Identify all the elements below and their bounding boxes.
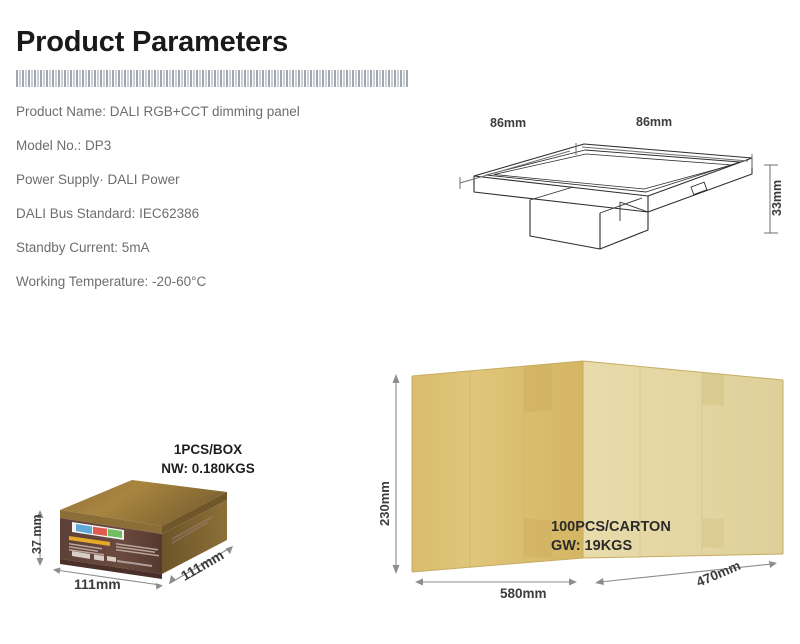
- panel-right-wall: [648, 158, 752, 212]
- panel-dimension-drawing: 86mm 86mm 33mm: [452, 118, 792, 253]
- carton-qty: 100PCS/CARTON: [551, 518, 671, 537]
- panel-dim-width-right: 86mm: [636, 115, 672, 129]
- panel-port-detail: [691, 182, 707, 194]
- carton-drawing: 230mm 580mm 470mm: [372, 358, 800, 606]
- panel-drawing-svg: [452, 118, 792, 253]
- dim-line-right-86: [582, 147, 748, 161]
- small-box-dim-width: 111mm: [74, 576, 121, 592]
- carton-dim-height: 230mm: [377, 481, 392, 526]
- carton-tape-top-side: [702, 372, 724, 406]
- dim-line-depth-470: [600, 564, 772, 582]
- decorative-divider: [16, 70, 408, 87]
- carton-tape-bottom-side: [702, 518, 724, 548]
- spec-item-power-supply: Power Supply· DALI Power: [16, 172, 436, 188]
- panel-front-wall: [474, 176, 648, 212]
- page-title: Product Parameters: [16, 26, 288, 59]
- carton-tape-bottom-front: [524, 518, 552, 558]
- spec-item-bus-standard: DALI Bus Standard: IEC62386: [16, 206, 436, 222]
- small-box-drawing: 37 mm 111mm 111mm: [12, 430, 282, 600]
- carton-weight: GW: 19KGS: [551, 537, 671, 556]
- spec-item-product-name: Product Name: DALI RGB+CCT dimming panel: [16, 104, 436, 120]
- spec-list: Product Name: DALI RGB+CCT dimming panel…: [16, 104, 436, 308]
- mount-box-right: [600, 212, 648, 249]
- panel-dim-width-left: 86mm: [490, 116, 526, 130]
- spec-item-working-temperature: Working Temperature: -20-60°C: [16, 274, 436, 290]
- mount-box-left: [530, 200, 600, 249]
- carton-tape-top-front: [524, 364, 552, 413]
- small-box-dim-height: 37 mm: [30, 514, 44, 554]
- panel-dim-height: 33mm: [770, 180, 784, 216]
- spec-item-standby-current: Standby Current: 5mA: [16, 240, 436, 256]
- spec-item-model-no: Model No.: DP3: [16, 138, 436, 154]
- small-box-svg: [12, 430, 282, 600]
- carton-dim-width: 580mm: [500, 586, 547, 601]
- carton-label-block: 100PCS/CARTON GW: 19KGS: [551, 518, 671, 556]
- mount-box-edge-a: [530, 187, 573, 200]
